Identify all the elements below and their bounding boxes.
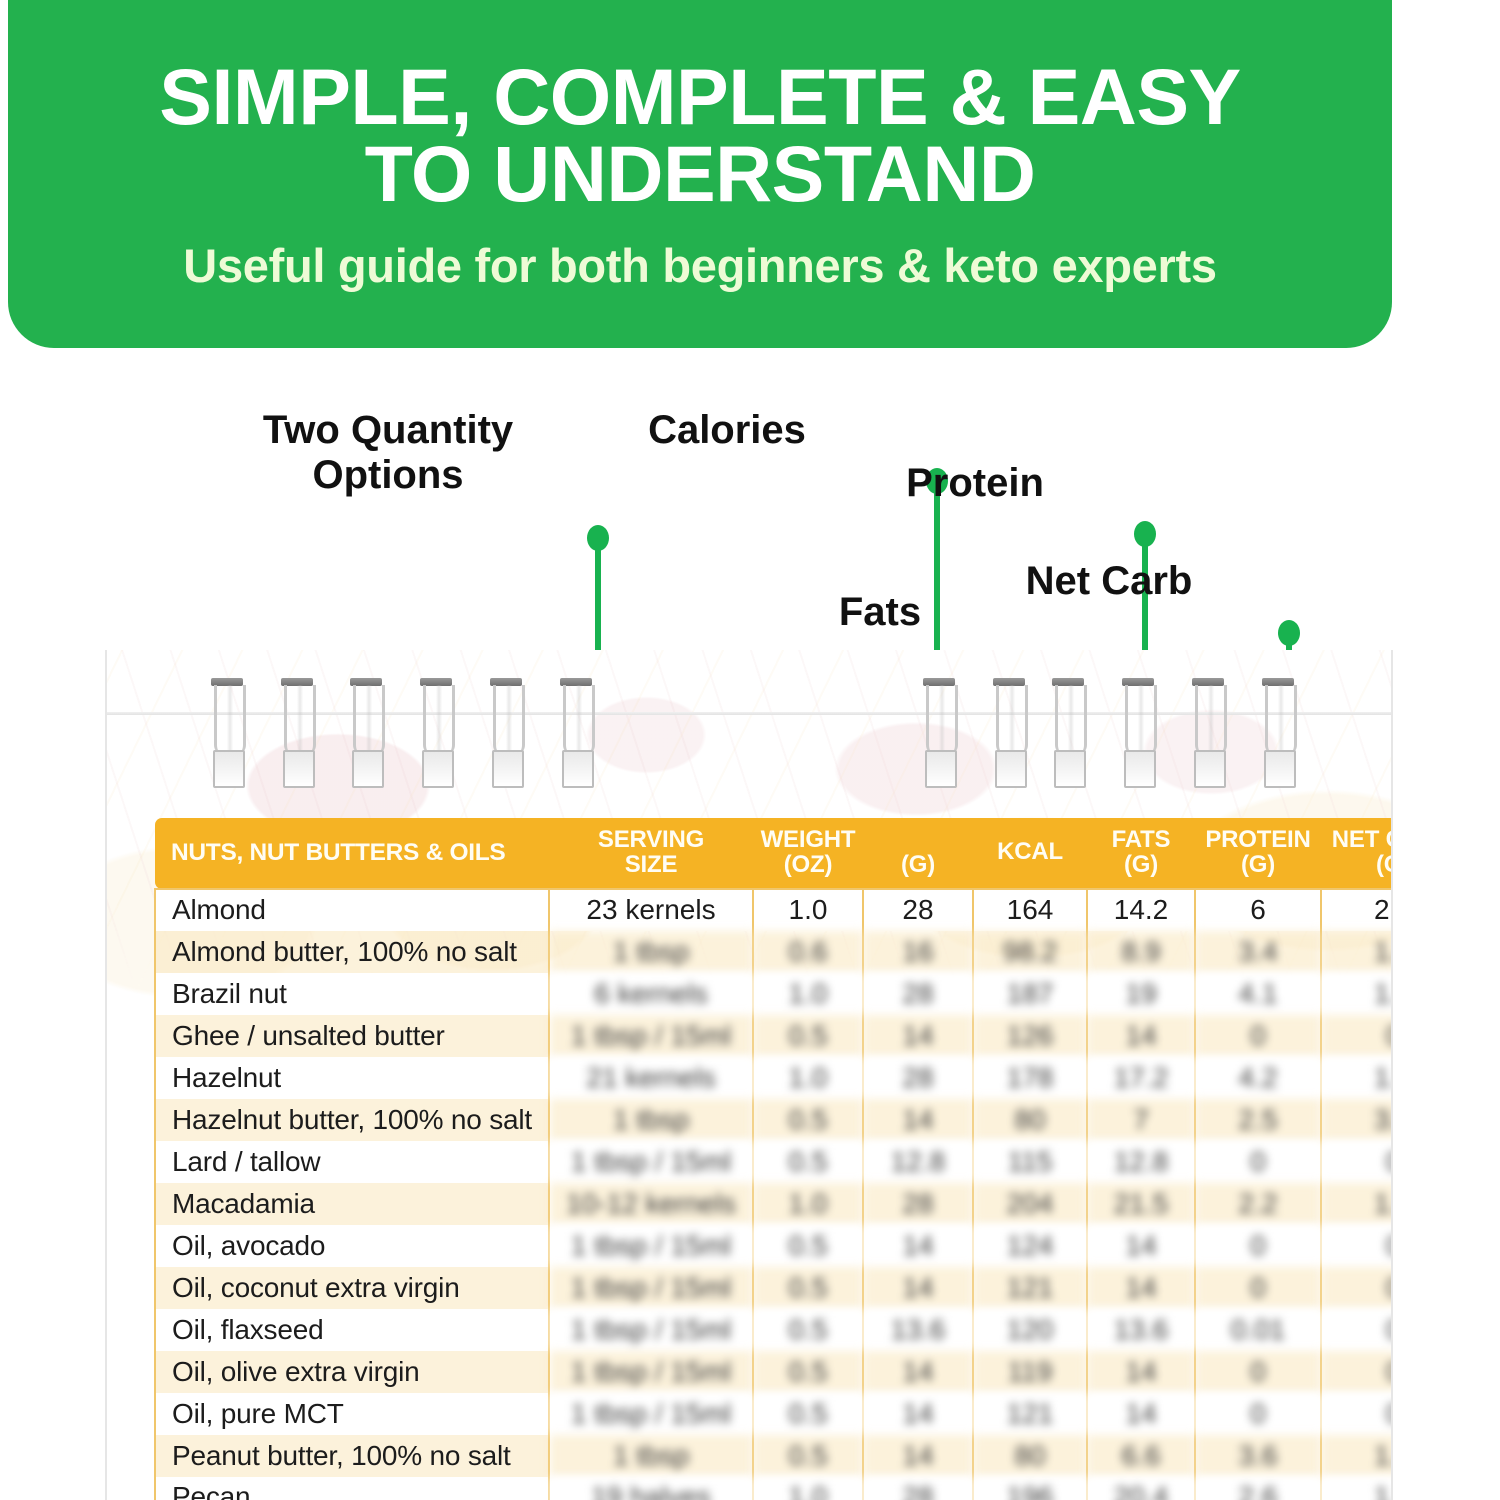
cell-fats: 14 bbox=[1087, 1225, 1195, 1267]
cell-protein: 4.1 bbox=[1195, 973, 1321, 1015]
spiral-ring bbox=[1192, 678, 1224, 786]
cell-protein: 0.01 bbox=[1195, 1309, 1321, 1351]
cell-fats: 19 bbox=[1087, 973, 1195, 1015]
cell-kcal: 115 bbox=[973, 1141, 1087, 1183]
spiral-ring bbox=[923, 678, 955, 786]
cell-g: 14 bbox=[863, 1351, 973, 1393]
cell-food-name: Almond bbox=[155, 889, 549, 931]
cell-kcal: 121 bbox=[973, 1267, 1087, 1309]
cell-g: 14 bbox=[863, 1267, 973, 1309]
cell-kcal: 187 bbox=[973, 973, 1087, 1015]
table-row: Brazil nut6 kernels1.028187194.11.2 bbox=[155, 973, 1393, 1015]
cell-fats: 6.6 bbox=[1087, 1435, 1195, 1477]
cell-g: 12.8 bbox=[863, 1141, 973, 1183]
cell-net-carb: 1.2 bbox=[1321, 973, 1393, 1015]
spiral-ring bbox=[350, 678, 382, 786]
spiral-ring bbox=[490, 678, 522, 786]
cell-protein: 3.6 bbox=[1195, 1435, 1321, 1477]
cell-food-name: Almond butter, 100% no salt bbox=[155, 931, 549, 973]
cell-protein: 2.6 bbox=[1195, 1477, 1321, 1500]
nutrition-table: NUTS, NUT BUTTERS & OILS SERVING SIZE WE… bbox=[154, 818, 1393, 1500]
hero-banner: SIMPLE, COMPLETE & EASY TO UNDERSTAND Us… bbox=[8, 0, 1392, 348]
cell-oz: 0.5 bbox=[753, 1393, 863, 1435]
cell-g: 14 bbox=[863, 1015, 973, 1057]
column-header-protein: PROTEIN (G) bbox=[1195, 818, 1321, 889]
cell-food-name: Peanut butter, 100% no salt bbox=[155, 1435, 549, 1477]
cell-fats: 20.4 bbox=[1087, 1477, 1195, 1500]
cell-food-name: Hazelnut butter, 100% no salt bbox=[155, 1099, 549, 1141]
table-header: NUTS, NUT BUTTERS & OILS SERVING SIZE WE… bbox=[155, 818, 1393, 889]
cell-food-name: Macadamia bbox=[155, 1183, 549, 1225]
cell-food-name: Oil, flaxseed bbox=[155, 1309, 549, 1351]
cell-g: 14 bbox=[863, 1393, 973, 1435]
cell-oz: 0.5 bbox=[753, 1225, 863, 1267]
cell-serving: 1 tbsp / 15ml bbox=[549, 1141, 753, 1183]
cell-kcal: 98.2 bbox=[973, 931, 1087, 973]
cell-fats: 14 bbox=[1087, 1015, 1195, 1057]
cell-oz: 1.0 bbox=[753, 1183, 863, 1225]
cell-food-name: Brazil nut bbox=[155, 973, 549, 1015]
cell-protein: 3.4 bbox=[1195, 931, 1321, 973]
spiral-ring bbox=[211, 678, 243, 786]
cell-oz: 1.0 bbox=[753, 1477, 863, 1500]
callout-label-net-carb: Net Carb bbox=[929, 559, 1289, 604]
table-row: Ghee / unsalted butter1 tbsp / 15ml0.514… bbox=[155, 1015, 1393, 1057]
column-header-weight-g: (G) bbox=[863, 818, 973, 889]
spiral-ring bbox=[560, 678, 592, 786]
cell-protein: 0 bbox=[1195, 1351, 1321, 1393]
cell-net-carb: 0 bbox=[1321, 1015, 1393, 1057]
table-row: Oil, pure MCT1 tbsp / 15ml0.5141211400 bbox=[155, 1393, 1393, 1435]
cell-fats: 14.2 bbox=[1087, 889, 1195, 931]
table-row: Peanut butter, 100% no salt1 tbsp0.51480… bbox=[155, 1435, 1393, 1477]
cell-serving: 19 halves bbox=[549, 1477, 753, 1500]
cell-food-name: Oil, pure MCT bbox=[155, 1393, 549, 1435]
cell-protein: 4.2 bbox=[1195, 1057, 1321, 1099]
column-header-name: NUTS, NUT BUTTERS & OILS bbox=[155, 818, 549, 889]
cell-food-name: Ghee / unsalted butter bbox=[155, 1015, 549, 1057]
spiral-ring bbox=[420, 678, 452, 786]
cell-g: 28 bbox=[863, 1183, 973, 1225]
cell-net-carb: 0 bbox=[1321, 1225, 1393, 1267]
cell-net-carb: 1.4 bbox=[1321, 931, 1393, 973]
cell-g: 13.6 bbox=[863, 1309, 973, 1351]
cell-serving: 1 tbsp / 15ml bbox=[549, 1225, 753, 1267]
table-row: Oil, olive extra virgin1 tbsp / 15ml0.51… bbox=[155, 1351, 1393, 1393]
cell-net-carb: 1.5 bbox=[1321, 1183, 1393, 1225]
table-row: Lard / tallow1 tbsp / 15ml0.512.811512.8… bbox=[155, 1141, 1393, 1183]
cell-serving: 21 kernels bbox=[549, 1057, 753, 1099]
cell-kcal: 120 bbox=[973, 1309, 1087, 1351]
table-row: Macadamia10-12 kernels1.02820421.52.21.5 bbox=[155, 1183, 1393, 1225]
table-row: Pecan19 halves1.02819620.42.61.2 bbox=[155, 1477, 1393, 1500]
cell-serving: 1 tbsp / 15ml bbox=[549, 1015, 753, 1057]
cell-protein: 2.2 bbox=[1195, 1183, 1321, 1225]
cell-serving: 10-12 kernels bbox=[549, 1183, 753, 1225]
cell-food-name: Pecan bbox=[155, 1477, 549, 1500]
cell-fats: 13.6 bbox=[1087, 1309, 1195, 1351]
notebook-page: NUTS, NUT BUTTERS & OILS SERVING SIZE WE… bbox=[105, 650, 1393, 1500]
cell-net-carb: 0 bbox=[1321, 1309, 1393, 1351]
cell-g: 28 bbox=[863, 1057, 973, 1099]
cell-g: 14 bbox=[863, 1225, 973, 1267]
cell-kcal: 204 bbox=[973, 1183, 1087, 1225]
column-header-serving: SERVING SIZE bbox=[549, 818, 753, 889]
cell-kcal: 80 bbox=[973, 1099, 1087, 1141]
table-row: Oil, flaxseed1 tbsp / 15ml0.513.612013.6… bbox=[155, 1309, 1393, 1351]
cell-serving: 1 tbsp / 15ml bbox=[549, 1351, 753, 1393]
table-row: Hazelnut21 kernels1.02817817.24.21.9 bbox=[155, 1057, 1393, 1099]
cell-g: 16 bbox=[863, 931, 973, 973]
cell-serving: 6 kernels bbox=[549, 973, 753, 1015]
cell-net-carb: 0 bbox=[1321, 1393, 1393, 1435]
column-header-fats: FATS (G) bbox=[1087, 818, 1195, 889]
table-row: Almond butter, 100% no salt1 tbsp0.61698… bbox=[155, 931, 1393, 973]
cell-oz: 0.5 bbox=[753, 1435, 863, 1477]
page-title: SIMPLE, COMPLETE & EASY TO UNDERSTAND bbox=[159, 58, 1240, 213]
cell-fats: 14 bbox=[1087, 1267, 1195, 1309]
spiral-binding bbox=[107, 650, 1391, 800]
spiral-ring bbox=[1052, 678, 1084, 786]
cell-kcal: 124 bbox=[973, 1225, 1087, 1267]
cell-oz: 0.5 bbox=[753, 1099, 863, 1141]
cell-net-carb: 0 bbox=[1321, 1351, 1393, 1393]
cell-g: 28 bbox=[863, 973, 973, 1015]
cell-serving: 1 tbsp bbox=[549, 1435, 753, 1477]
cell-fats: 12.8 bbox=[1087, 1141, 1195, 1183]
cell-food-name: Oil, avocado bbox=[155, 1225, 549, 1267]
table-row: Oil, avocado1 tbsp / 15ml0.5141241400 bbox=[155, 1225, 1393, 1267]
page-subtitle: Useful guide for both beginners & keto e… bbox=[183, 241, 1216, 290]
cell-kcal: 164 bbox=[973, 889, 1087, 931]
cell-oz: 0.6 bbox=[753, 931, 863, 973]
cell-food-name: Hazelnut bbox=[155, 1057, 549, 1099]
cell-fats: 8.9 bbox=[1087, 931, 1195, 973]
callout-label-protein: Protein bbox=[805, 461, 1145, 506]
column-header-net-carb: NET CARB (G) bbox=[1321, 818, 1393, 889]
table-row: Hazelnut butter, 100% no salt1 tbsp0.514… bbox=[155, 1099, 1393, 1141]
cell-serving: 1 tbsp bbox=[549, 931, 753, 973]
table-row: Almond23 kernels1.02816414.262.6 bbox=[155, 889, 1393, 931]
callout-label-calories: Calories bbox=[517, 408, 937, 453]
cell-g: 14 bbox=[863, 1435, 973, 1477]
cell-fats: 14 bbox=[1087, 1351, 1195, 1393]
cell-fats: 14 bbox=[1087, 1393, 1195, 1435]
cell-serving: 1 tbsp / 15ml bbox=[549, 1267, 753, 1309]
cell-oz: 0.5 bbox=[753, 1309, 863, 1351]
cell-fats: 17.2 bbox=[1087, 1057, 1195, 1099]
spiral-ring bbox=[1122, 678, 1154, 786]
cell-oz: 1.0 bbox=[753, 1057, 863, 1099]
cell-net-carb: 1.2 bbox=[1321, 1477, 1393, 1500]
column-header-weight-oz: WEIGHT (OZ) bbox=[753, 818, 863, 889]
cell-net-carb: 3.5 bbox=[1321, 1099, 1393, 1141]
cell-kcal: 196 bbox=[973, 1477, 1087, 1500]
cell-kcal: 178 bbox=[973, 1057, 1087, 1099]
cell-g: 14 bbox=[863, 1099, 973, 1141]
cell-protein: 6 bbox=[1195, 889, 1321, 931]
cell-serving: 1 tbsp / 15ml bbox=[549, 1393, 753, 1435]
table-row: Oil, coconut extra virgin1 tbsp / 15ml0.… bbox=[155, 1267, 1393, 1309]
cell-oz: 0.5 bbox=[753, 1015, 863, 1057]
cell-oz: 1.0 bbox=[753, 973, 863, 1015]
spiral-ring bbox=[993, 678, 1025, 786]
cell-protein: 0 bbox=[1195, 1015, 1321, 1057]
cell-kcal: 126 bbox=[973, 1015, 1087, 1057]
cell-food-name: Lard / tallow bbox=[155, 1141, 549, 1183]
cell-food-name: Oil, coconut extra virgin bbox=[155, 1267, 549, 1309]
cell-g: 28 bbox=[863, 889, 973, 931]
cell-protein: 0 bbox=[1195, 1393, 1321, 1435]
cell-serving: 23 kernels bbox=[549, 889, 753, 931]
cell-protein: 2.5 bbox=[1195, 1099, 1321, 1141]
cell-oz: 0.5 bbox=[753, 1141, 863, 1183]
cell-net-carb: 1.3 bbox=[1321, 1435, 1393, 1477]
cell-serving: 1 tbsp / 15ml bbox=[549, 1309, 753, 1351]
cell-kcal: 80 bbox=[973, 1435, 1087, 1477]
cell-food-name: Oil, olive extra virgin bbox=[155, 1351, 549, 1393]
cell-fats: 7 bbox=[1087, 1099, 1195, 1141]
cell-protein: 0 bbox=[1195, 1267, 1321, 1309]
cell-protein: 0 bbox=[1195, 1225, 1321, 1267]
cell-oz: 1.0 bbox=[753, 889, 863, 931]
cell-g: 28 bbox=[863, 1477, 973, 1500]
spiral-ring bbox=[1262, 678, 1294, 786]
cell-protein: 0 bbox=[1195, 1141, 1321, 1183]
cell-serving: 1 tbsp bbox=[549, 1099, 753, 1141]
cell-net-carb: 0 bbox=[1321, 1267, 1393, 1309]
nutrition-table-wrapper: NUTS, NUT BUTTERS & OILS SERVING SIZE WE… bbox=[154, 818, 1350, 1500]
cell-net-carb: 2.6 bbox=[1321, 889, 1393, 931]
table-header-row: NUTS, NUT BUTTERS & OILS SERVING SIZE WE… bbox=[155, 818, 1393, 889]
cell-oz: 0.5 bbox=[753, 1267, 863, 1309]
cell-net-carb: 0 bbox=[1321, 1141, 1393, 1183]
table-body: Almond23 kernels1.02816414.262.6Almond b… bbox=[155, 889, 1393, 1500]
cell-kcal: 119 bbox=[973, 1351, 1087, 1393]
column-header-kcal: KCAL bbox=[973, 818, 1087, 889]
cell-oz: 0.5 bbox=[753, 1351, 863, 1393]
cell-fats: 21.5 bbox=[1087, 1183, 1195, 1225]
spiral-ring bbox=[281, 678, 313, 786]
cell-net-carb: 1.9 bbox=[1321, 1057, 1393, 1099]
cell-kcal: 121 bbox=[973, 1393, 1087, 1435]
